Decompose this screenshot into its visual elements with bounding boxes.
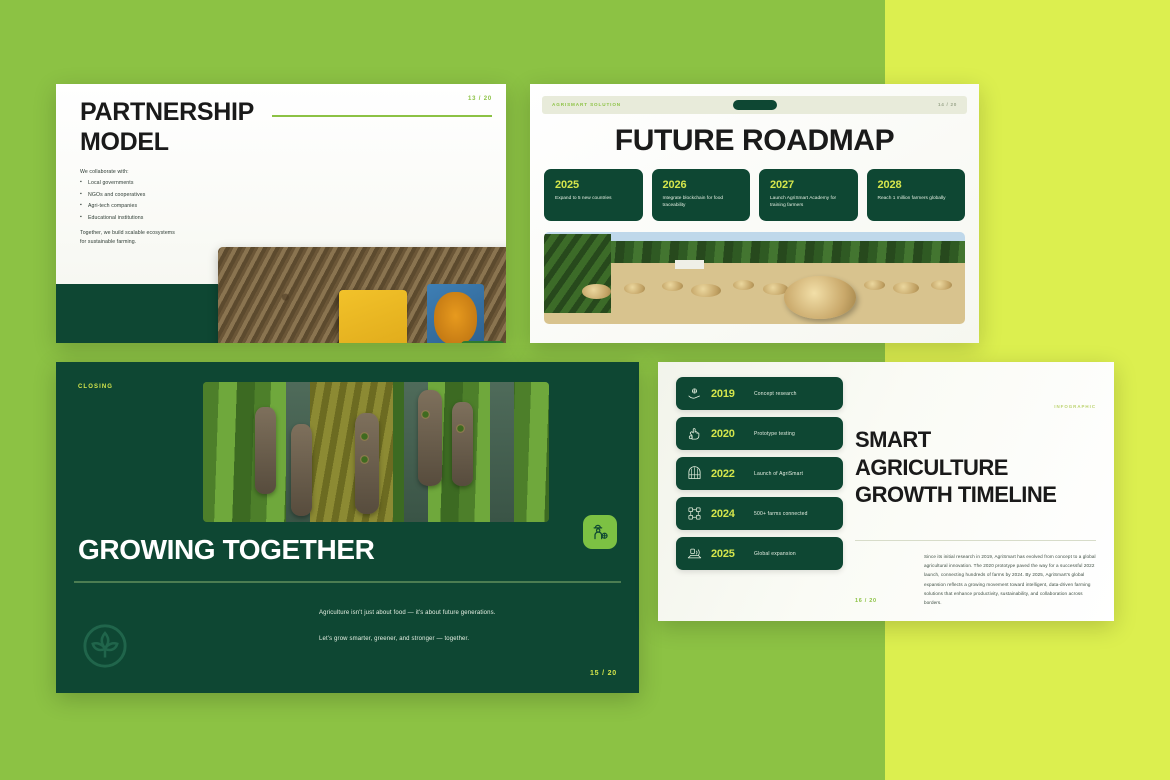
greenhouse-icon [686, 466, 702, 482]
slide1-title-line1: PARTNERSHIP [80, 98, 310, 128]
boat [418, 390, 442, 485]
timeline-row[interactable]: 2020 Prototype testing [676, 417, 843, 450]
slide4-title: SMART AGRICULTURE GROWTH TIMELINE [855, 426, 1096, 509]
harvester-field-image [218, 247, 506, 343]
hay-bale [624, 283, 645, 294]
farmer-icon [590, 522, 610, 542]
hand-seedling-icon [686, 386, 702, 402]
timeline-label: Global expansion [754, 551, 796, 557]
tractor-vehicle [461, 341, 505, 343]
slide2-pill-indicator[interactable] [733, 100, 777, 110]
slide1-title-rule [272, 115, 492, 117]
timeline-year: 2022 [711, 468, 745, 480]
slide4-paragraph: Since its initial research in 2019, Agri… [924, 552, 1096, 607]
hay-bale [864, 280, 885, 290]
leaf-logo-icon [82, 623, 128, 669]
slide2-brand-label: AGRISMART SOLUTION [552, 102, 621, 107]
grain-trailer [427, 284, 484, 343]
slide1-lead-text: We collaborate with: [80, 169, 180, 175]
roadmap-desc: Integrate blockchain for food traceabili… [663, 195, 741, 210]
foreground-bush [544, 234, 611, 313]
roadmap-card[interactable]: 2025 Expand to 5 new countries [544, 169, 643, 221]
roadmap-year: 2027 [770, 179, 848, 191]
roadmap-year: 2026 [663, 179, 741, 191]
network-farms-icon [686, 506, 702, 522]
produce-basket [421, 410, 430, 419]
slide2-page-number: 14 / 20 [938, 102, 957, 107]
slide-partnership-model[interactable]: PARTNERSHIP MODEL 13 / 20 We collaborate… [56, 84, 506, 343]
slide4-title-line3: GROWTH TIMELINE [855, 481, 1096, 509]
data-field-icon [686, 546, 702, 562]
boat [452, 402, 473, 486]
timeline-label: 500+ farms connected [754, 511, 808, 517]
roadmap-desc: Reach 1 million farmers globally [878, 195, 956, 202]
timeline-year: 2020 [711, 428, 745, 440]
hay-bale [733, 280, 754, 290]
boat [355, 413, 379, 514]
timeline-label: Concept research [754, 391, 797, 397]
timeline-row[interactable]: 2024 500+ farms connected [676, 497, 843, 530]
slide2-roadmap-cards: 2025 Expand to 5 new countries 2026 Inte… [544, 169, 965, 221]
roadmap-card[interactable]: 2028 Reach 1 million farmers globally [867, 169, 966, 221]
timeline-label: Prototype testing [754, 431, 795, 437]
timeline-year: 2025 [711, 548, 745, 560]
hay-bale [691, 284, 720, 298]
boat [255, 407, 276, 494]
roadmap-desc: Launch AgriSmart Academy for training fa… [770, 195, 848, 210]
slide3-divider [74, 581, 621, 583]
slide3-quote-line2: Let's grow smarter, greener, and stronge… [319, 633, 519, 646]
slide1-footer-text: Together, we build scalable ecosystems f… [80, 229, 180, 247]
slide2-title: FUTURE ROADMAP [530, 124, 979, 158]
timeline-row[interactable]: 2019 Concept research [676, 377, 843, 410]
list-item: Agri-tech companies [80, 203, 180, 209]
slide2-top-bar: AGRISMART SOLUTION 14 / 20 [542, 96, 967, 114]
timeline-row[interactable]: 2025 Global expansion [676, 537, 843, 570]
timeline-year: 2019 [711, 388, 745, 400]
slide3-farmer-badge[interactable] [583, 515, 617, 549]
slide3-photo [203, 382, 549, 522]
roadmap-year: 2028 [878, 179, 956, 191]
canal-water [490, 382, 514, 522]
hay-bales-image [544, 232, 965, 324]
glove-hand-icon [686, 426, 702, 442]
slide3-page-number: 15 / 20 [590, 670, 617, 677]
slide1-photo [218, 247, 506, 343]
slide1-title-line2: MODEL [80, 128, 310, 158]
slide3-kicker-label: CLOSING [78, 384, 113, 390]
hay-bale [893, 282, 918, 294]
slide1-body: We collaborate with: Local governments N… [80, 169, 180, 247]
list-item: NGOs and cooperatives [80, 192, 180, 198]
slide4-infographic-tag: INFOGRAPHIC [1054, 404, 1096, 409]
roadmap-year: 2025 [555, 179, 633, 191]
slide1-bullet-list: Local governments NGOs and cooperatives … [80, 180, 180, 221]
slide1-title: PARTNERSHIP MODEL [80, 98, 310, 157]
slide3-title: GROWING TOGETHER [78, 534, 374, 566]
list-item: Local governments [80, 180, 180, 186]
slide4-title-line2: AGRICULTURE [855, 454, 1096, 482]
list-item: Educational institutions [80, 215, 180, 221]
roadmap-card[interactable]: 2026 Integrate blockchain for food trace… [652, 169, 751, 221]
timeline-label: Launch of AgriSmart [754, 471, 803, 477]
roadmap-card[interactable]: 2027 Launch AgriSmart Academy for traini… [759, 169, 858, 221]
farm-house [675, 260, 704, 269]
timeline-row[interactable]: 2022 Launch of AgriSmart [676, 457, 843, 490]
slide4-page-number: 16 / 20 [855, 598, 877, 604]
slide4-title-line1: SMART [855, 426, 1096, 454]
slide3-quote-block: Agriculture isn't just about food — it's… [319, 607, 519, 645]
slide3-quote-line1: Agriculture isn't just about food — it's… [319, 607, 519, 620]
timeline-year: 2024 [711, 508, 745, 520]
hay-bale-foreground [784, 276, 856, 319]
slide-future-roadmap[interactable]: AGRISMART SOLUTION 14 / 20 FUTURE ROADMA… [530, 84, 979, 343]
roadmap-desc: Expand to 5 new countries [555, 195, 633, 202]
slide1-page-number: 13 / 20 [468, 96, 492, 102]
crop-strip [310, 382, 393, 522]
floating-market-image [203, 382, 549, 522]
slide-growing-together[interactable]: CLOSING GROWING TOGETHER [56, 362, 639, 693]
slide4-divider [855, 540, 1096, 541]
hay-bale [931, 280, 952, 290]
hay-bale [662, 281, 683, 291]
slide-growth-timeline[interactable]: 2019 Concept research 2020 Prototype tes… [658, 362, 1114, 621]
slide2-photo [544, 232, 965, 324]
produce-basket [456, 424, 465, 433]
boat [291, 424, 312, 516]
harvester-vehicle [339, 290, 406, 343]
slide4-timeline-list: 2019 Concept research 2020 Prototype tes… [676, 377, 843, 577]
